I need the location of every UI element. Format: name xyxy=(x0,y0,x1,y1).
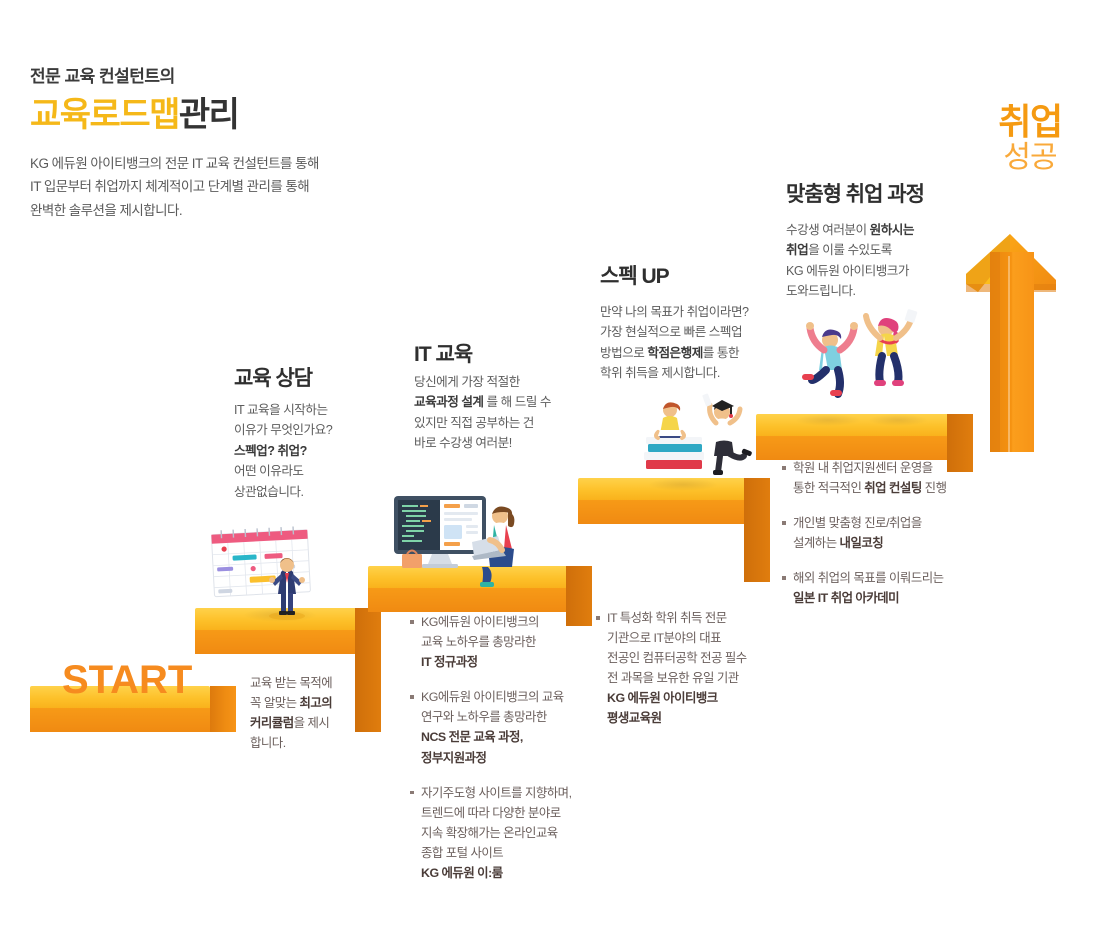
page-title: 교육로드맵관리 xyxy=(30,96,450,134)
bullet-line: NCS 전문 교육 과정, xyxy=(421,730,523,744)
step-3-bullets: IT 특성화 학위 취득 전문기관으로 IT분야의 대표전공인 컴퓨터공학 전공… xyxy=(596,608,788,729)
bullet-item: 자기주도형 사이트를 지향하며,트렌드에 따라 다양한 분야로지속 확장해가는 … xyxy=(410,783,600,883)
step-2-title: IT 교육 xyxy=(414,338,472,368)
bullet-line: 평생교육원 xyxy=(607,711,662,725)
monitor-coder-illustration xyxy=(388,492,538,597)
body-line: 있지만 직접 공부하는 건 xyxy=(414,416,534,430)
bullet-item: IT 특성화 학위 취득 전문기관으로 IT분야의 대표전공인 컴퓨터공학 전공… xyxy=(596,608,788,729)
stair-riser xyxy=(195,630,380,654)
stair-column-1 xyxy=(210,686,236,732)
bullet-item: 개인별 맞춤형 진로/취업을설계하는 내일코칭 xyxy=(782,513,982,553)
step-1-bullets: 교육 받는 목적에꼭 알맞는 최고의커리큘럼을 제시합니다. xyxy=(250,673,410,753)
bullet-item: 학원 내 취업지원센터 운영을통한 적극적인 취업 컨설팅 진행 xyxy=(782,458,982,498)
body-line: 어떤 이유라도 xyxy=(234,464,304,478)
bullet-line: 기관으로 IT분야의 대표 xyxy=(607,631,721,645)
stair-riser xyxy=(578,500,768,524)
bullet-line: 개인별 맞춤형 진로/취업을 xyxy=(793,516,922,530)
header-description: KG 에듀원 아이티뱅크의 전문 IT 교육 컨설턴트를 통해IT 입문부터 취… xyxy=(30,152,450,222)
bullet-line: 전 과목을 보유한 유일 기관 xyxy=(607,671,739,685)
page-title-dark: 관리 xyxy=(179,96,239,134)
bullet-line: 해외 취업의 목표를 이뤄드리는 xyxy=(793,571,944,585)
success-label-secondary: 성공 xyxy=(975,141,1085,176)
success-label: 취업 성공 xyxy=(975,103,1085,175)
header-eyebrow: 전문 교육 컨설턴트의 xyxy=(30,62,450,87)
step-2-bullets: KG에듀원 아이티뱅크의교육 노하우를 총망라한IT 정규과정KG에듀원 아이티… xyxy=(410,612,600,883)
bullet-line: 커리큘럼을 제시 xyxy=(250,716,329,730)
bullet-item: 교육 받는 목적에꼭 알맞는 최고의커리큘럼을 제시합니다. xyxy=(250,673,410,753)
bullet-line: 학원 내 취업지원센터 운영을 xyxy=(793,461,933,475)
step-3-body: 만약 나의 목표가 취업이라면?가장 현실적으로 빠른 스펙업방법으로 학점은행… xyxy=(600,302,790,384)
body-line: 스펙업? 취업? xyxy=(234,444,307,458)
bullet-line: 교육 받는 목적에 xyxy=(250,676,332,690)
start-label: START xyxy=(62,658,192,703)
bullet-line: KG에듀원 아이티뱅크의 교육 xyxy=(421,690,564,704)
step-4-title: 맞춤형 취업 과정 xyxy=(786,178,924,208)
body-line: 가장 현실적으로 빠른 스펙업 xyxy=(600,325,742,339)
body-line: 수강생 여러분이 원하시는 xyxy=(786,223,914,237)
bullet-line: IT 정규과정 xyxy=(421,655,478,669)
body-line: 방법으로 학점은행제를 통한 xyxy=(600,346,739,360)
calendar-presenter-illustration xyxy=(205,520,335,625)
body-line: 만약 나의 목표가 취업이라면? xyxy=(600,305,749,319)
bullet-line: 전공인 컴퓨터공학 전공 필수 xyxy=(607,651,747,665)
bullet-line: KG 에듀원 이:룸 xyxy=(421,866,503,880)
bullet-line: 종합 포털 사이트 xyxy=(421,846,503,860)
step-4-body: 수강생 여러분이 원하시는취업을 이룰 수있도록KG 에듀원 아이티뱅크가도와드… xyxy=(786,220,986,302)
stair-riser xyxy=(30,708,210,732)
bullet-line: 트렌드에 따라 다양한 분야로 xyxy=(421,806,561,820)
infographic-canvas: 전문 교육 컨설턴트의 교육로드맵관리 KG 에듀원 아이티뱅크의 전문 IT … xyxy=(0,0,1100,925)
header-description-line: 완벽한 솔루션을 제시합니다. xyxy=(30,203,182,218)
bullet-item: KG에듀원 아이티뱅크의 교육연구와 노하우를 총망라한NCS 전문 교육 과정… xyxy=(410,687,600,767)
header-description-line: IT 입문부터 취업까지 체계적이고 단계별 관리를 통해 xyxy=(30,179,309,194)
body-line: 이유가 무엇인가요? xyxy=(234,423,332,437)
bullet-item: 해외 취업의 목표를 이뤄드리는일본 IT 취업 아카데미 xyxy=(782,568,982,608)
page-title-highlight: 교육로드맵 xyxy=(30,96,179,134)
bullet-line: 일본 IT 취업 아카데미 xyxy=(793,591,899,605)
bullet-line: KG에듀원 아이티뱅크의 xyxy=(421,615,539,629)
body-line: 학위 취득을 제시합니다. xyxy=(600,366,720,380)
bullet-line: 정부지원과정 xyxy=(421,751,486,765)
body-line: 취업을 이룰 수있도록 xyxy=(786,243,892,257)
body-line: 교육과정 설계 를 해 드릴 수 xyxy=(414,395,551,409)
bullet-line: 연구와 노하우를 총망라한 xyxy=(421,710,547,724)
bullet-line: 지속 확장해가는 온라인교육 xyxy=(421,826,558,840)
bullet-line: 꼭 알맞는 최고의 xyxy=(250,696,332,710)
step-1-body: IT 교육을 시작하는이유가 무엇인가요?스펙업? 취업?어떤 이유라도상관없습… xyxy=(234,400,414,502)
bullet-line: IT 특성화 학위 취득 전문 xyxy=(607,611,727,625)
celebrating-pair-illustration xyxy=(786,292,946,427)
bullet-line: 합니다. xyxy=(250,736,286,750)
bullet-line: 교육 노하우를 총망라한 xyxy=(421,635,536,649)
bullet-item: KG에듀원 아이티뱅크의교육 노하우를 총망라한IT 정규과정 xyxy=(410,612,600,672)
header-block: 전문 교육 컨설턴트의 교육로드맵관리 KG 에듀원 아이티뱅크의 전문 IT … xyxy=(30,62,450,222)
bullet-line: 통한 적극적인 취업 컨설팅 진행 xyxy=(793,481,946,495)
bullet-line: 자기주도형 사이트를 지향하며, xyxy=(421,786,572,800)
body-line: KG 에듀원 아이티뱅크가 xyxy=(786,264,909,278)
body-line: 당신에게 가장 적절한 xyxy=(414,375,520,389)
bullet-line: 설계하는 내일코칭 xyxy=(793,536,883,550)
stair-column-4 xyxy=(744,478,770,582)
step-3-title: 스펙 UP xyxy=(600,260,669,290)
body-line: IT 교육을 시작하는 xyxy=(234,403,328,417)
bullet-line: KG 에듀원 아이티뱅크 xyxy=(607,691,718,705)
body-line: 상관없습니다. xyxy=(234,485,304,499)
step-1-title: 교육 상담 xyxy=(234,362,312,392)
step-4-bullets: 학원 내 취업지원센터 운영을통한 적극적인 취업 컨설팅 진행개인별 맞춤형 … xyxy=(782,458,982,609)
graduate-books-illustration xyxy=(640,382,790,487)
step-2-body: 당신에게 가장 적절한교육과정 설계 를 해 드릴 수있지만 직접 공부하는 건… xyxy=(414,372,614,454)
header-description-line: KG 에듀원 아이티뱅크의 전문 IT 교육 컨설턴트를 통해 xyxy=(30,156,319,171)
body-line: 바로 수강생 여러분! xyxy=(414,436,512,450)
success-label-primary: 취업 xyxy=(975,103,1085,141)
